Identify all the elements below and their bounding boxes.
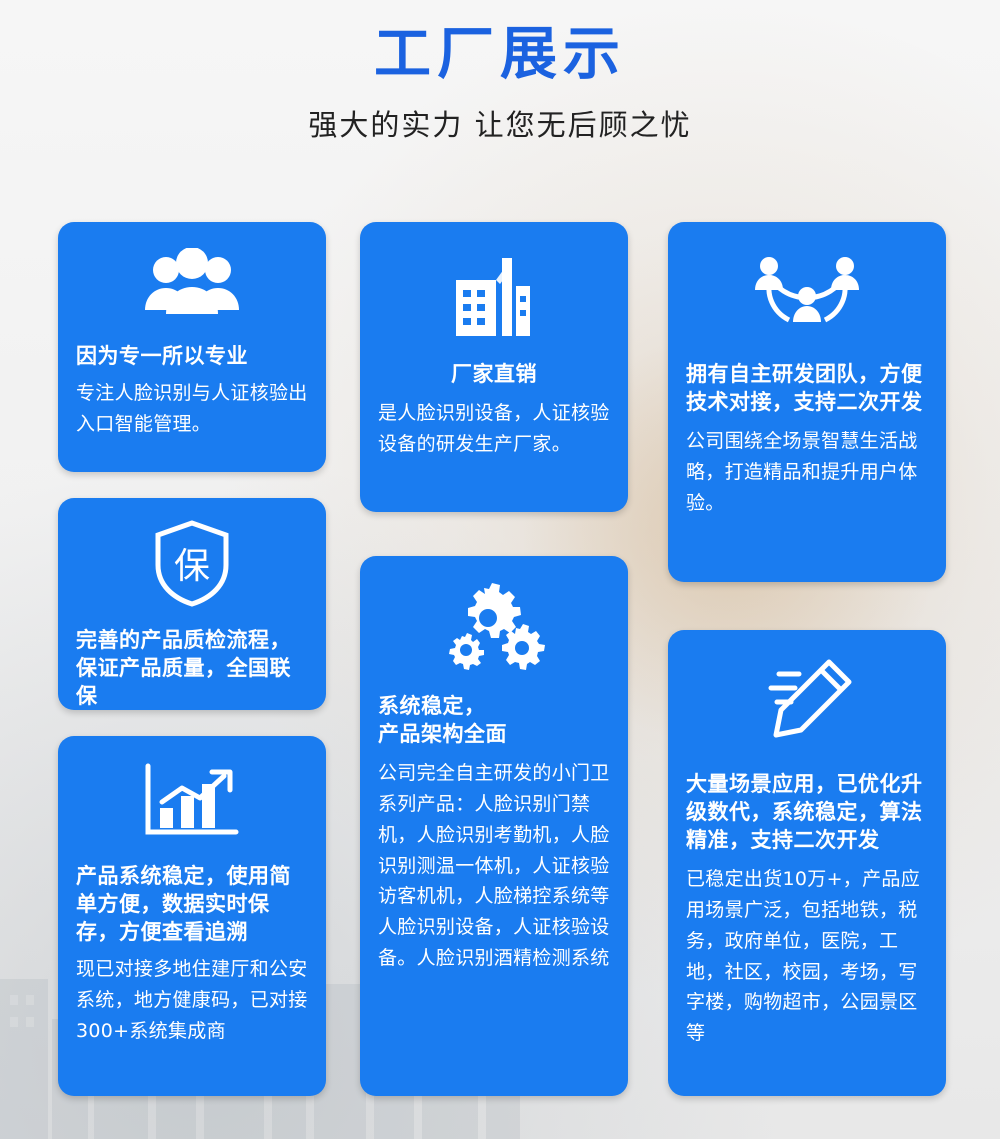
card-body: 现已对接多地住建厅和公安系统，地方健康码，已对接300+系统集成商 — [76, 954, 308, 1046]
feature-card-wide-application[interactable]: 大量场景应用，已优化升级数代，系统稳定，算法精准，支持二次开发 已稳定出货10万… — [668, 630, 946, 1096]
card-body: 专注人脸识别与人证核验出入口智能管理。 — [76, 378, 308, 440]
card-heading: 拥有自主研发团队，方便技术对接，支持二次开发 — [686, 360, 928, 416]
feature-card-expertise[interactable]: 因为专一所以专业 专注人脸识别与人证核验出入口智能管理。 — [58, 222, 326, 472]
shield-guarantee-icon: 保 — [76, 498, 308, 612]
feature-card-stable-system[interactable]: 系统稳定， 产品架构全面 公司完全自主研发的小门卫系列产品：人脸识别门禁机，人脸… — [360, 556, 628, 1096]
gears-icon — [378, 556, 610, 676]
feature-card-direct-sales[interactable]: 厂家直销 是人脸识别设备，人证核验设备的研发生产厂家。 — [360, 222, 628, 512]
card-body: 是人脸识别设备，人证核验设备的研发生产厂家。 — [378, 398, 610, 460]
card-body: 公司围绕全场景智慧生活战略，打造精品和提升用户体验。 — [686, 426, 928, 518]
card-heading: 大量场景应用，已优化升级数代，系统稳定，算法精准，支持二次开发 — [686, 770, 928, 854]
card-heading: 厂家直销 — [378, 360, 610, 388]
svg-text:保: 保 — [174, 546, 210, 587]
feature-card-data-tracking[interactable]: 产品系统稳定，使用简单方便，数据实时保存，方便查看追溯 现已对接多地住建厅和公安… — [58, 736, 326, 1096]
card-body: 已稳定出货10万+，产品应用场景广泛，包括地铁，税务，政府单位，医院，工地，社区… — [686, 864, 928, 1049]
feature-card-rnd-team[interactable]: 拥有自主研发团队，方便技术对接，支持二次开发 公司围绕全场景智慧生活战略，打造精… — [668, 222, 946, 582]
pencil-edit-icon — [686, 630, 928, 754]
card-body: 公司完全自主研发的小门卫系列产品：人脸识别门禁机，人脸识别考勤机，人脸识别测温一… — [378, 758, 610, 973]
factory-building-icon — [378, 222, 610, 342]
bar-chart-growth-icon — [76, 736, 308, 848]
team-network-icon — [686, 222, 928, 344]
card-heading: 完善的产品质检流程，保证产品质量，全国联保 — [76, 626, 308, 710]
card-heading: 系统稳定， 产品架构全面 — [378, 692, 610, 748]
feature-card-board: 因为专一所以专业 专注人脸识别与人证核验出入口智能管理。 厂家直销 — [0, 0, 1000, 1139]
card-heading: 因为专一所以专业 — [76, 342, 308, 370]
card-heading: 产品系统稳定，使用简单方便，数据实时保存，方便查看追溯 — [76, 862, 308, 946]
feature-card-quality-guarantee[interactable]: 保 完善的产品质检流程，保证产品质量，全国联保 — [58, 498, 326, 710]
three-people-icon — [76, 222, 308, 328]
